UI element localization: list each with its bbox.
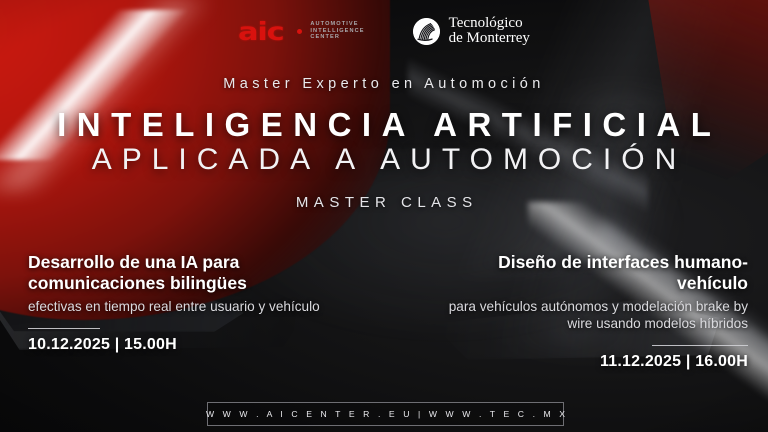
session-2-description: para vehículos autónomos y modelación br… — [438, 299, 748, 333]
logo-row: aic AUTOMOTIVE INTELLIGENCE CENTER — [0, 10, 768, 52]
aic-separator-dot — [297, 29, 302, 34]
aic-subtitle-line-3: CENTER — [310, 34, 364, 41]
tec-de-monterrey-logo: Tecnológico de Monterrey — [413, 16, 530, 47]
aic-subtitle-line-2: INTELLIGENCE — [310, 28, 364, 35]
tec-wordmark-line-2: de Monterrey — [449, 31, 530, 46]
session-2-divider — [652, 345, 748, 346]
tec-emblem-icon — [413, 18, 440, 45]
session-card-1: Desarrollo de una IA para comunicaciones… — [28, 252, 328, 354]
session-2-title: Diseño de interfaces humano-vehículo — [438, 252, 748, 293]
footer-links-text: W W W . A I C E N T E R . E U | W W W . … — [203, 409, 568, 419]
session-1-datetime: 10.12.2025 | 15.00H — [28, 336, 328, 354]
event-type-label: MASTER CLASS — [0, 194, 768, 211]
session-1-description: efectivas en tiempo real entre usuario y… — [28, 299, 328, 316]
promotional-poster: aic AUTOMOTIVE INTELLIGENCE CENTER — [0, 0, 768, 432]
tec-wordmark: Tecnológico de Monterrey — [449, 16, 530, 47]
footer-links-box[interactable]: W W W . A I C E N T E R . E U | W W W . … — [207, 402, 564, 426]
headline-line-2: APLICADA A AUTOMOCIÓN — [0, 143, 768, 177]
session-1-title: Desarrollo de una IA para comunicaciones… — [28, 252, 328, 293]
session-1-divider — [28, 328, 100, 329]
session-2-datetime: 11.12.2025 | 16.00H — [438, 353, 748, 371]
tec-wordmark-line-1: Tecnológico — [449, 16, 530, 31]
session-card-2: Diseño de interfaces humano-vehículo par… — [438, 252, 748, 371]
poster-content: aic AUTOMOTIVE INTELLIGENCE CENTER — [0, 0, 768, 432]
aic-wordmark: aic — [238, 19, 283, 44]
headline-line-1: INTELIGENCIA ARTIFICIAL — [0, 106, 768, 144]
aic-subtitle-line-1: AUTOMOTIVE — [310, 21, 364, 28]
aic-subtitle: AUTOMOTIVE INTELLIGENCE CENTER — [310, 21, 364, 41]
aic-logo: aic AUTOMOTIVE INTELLIGENCE CENTER — [238, 19, 365, 44]
program-kicker: Master Experto en Automoción — [0, 76, 768, 92]
